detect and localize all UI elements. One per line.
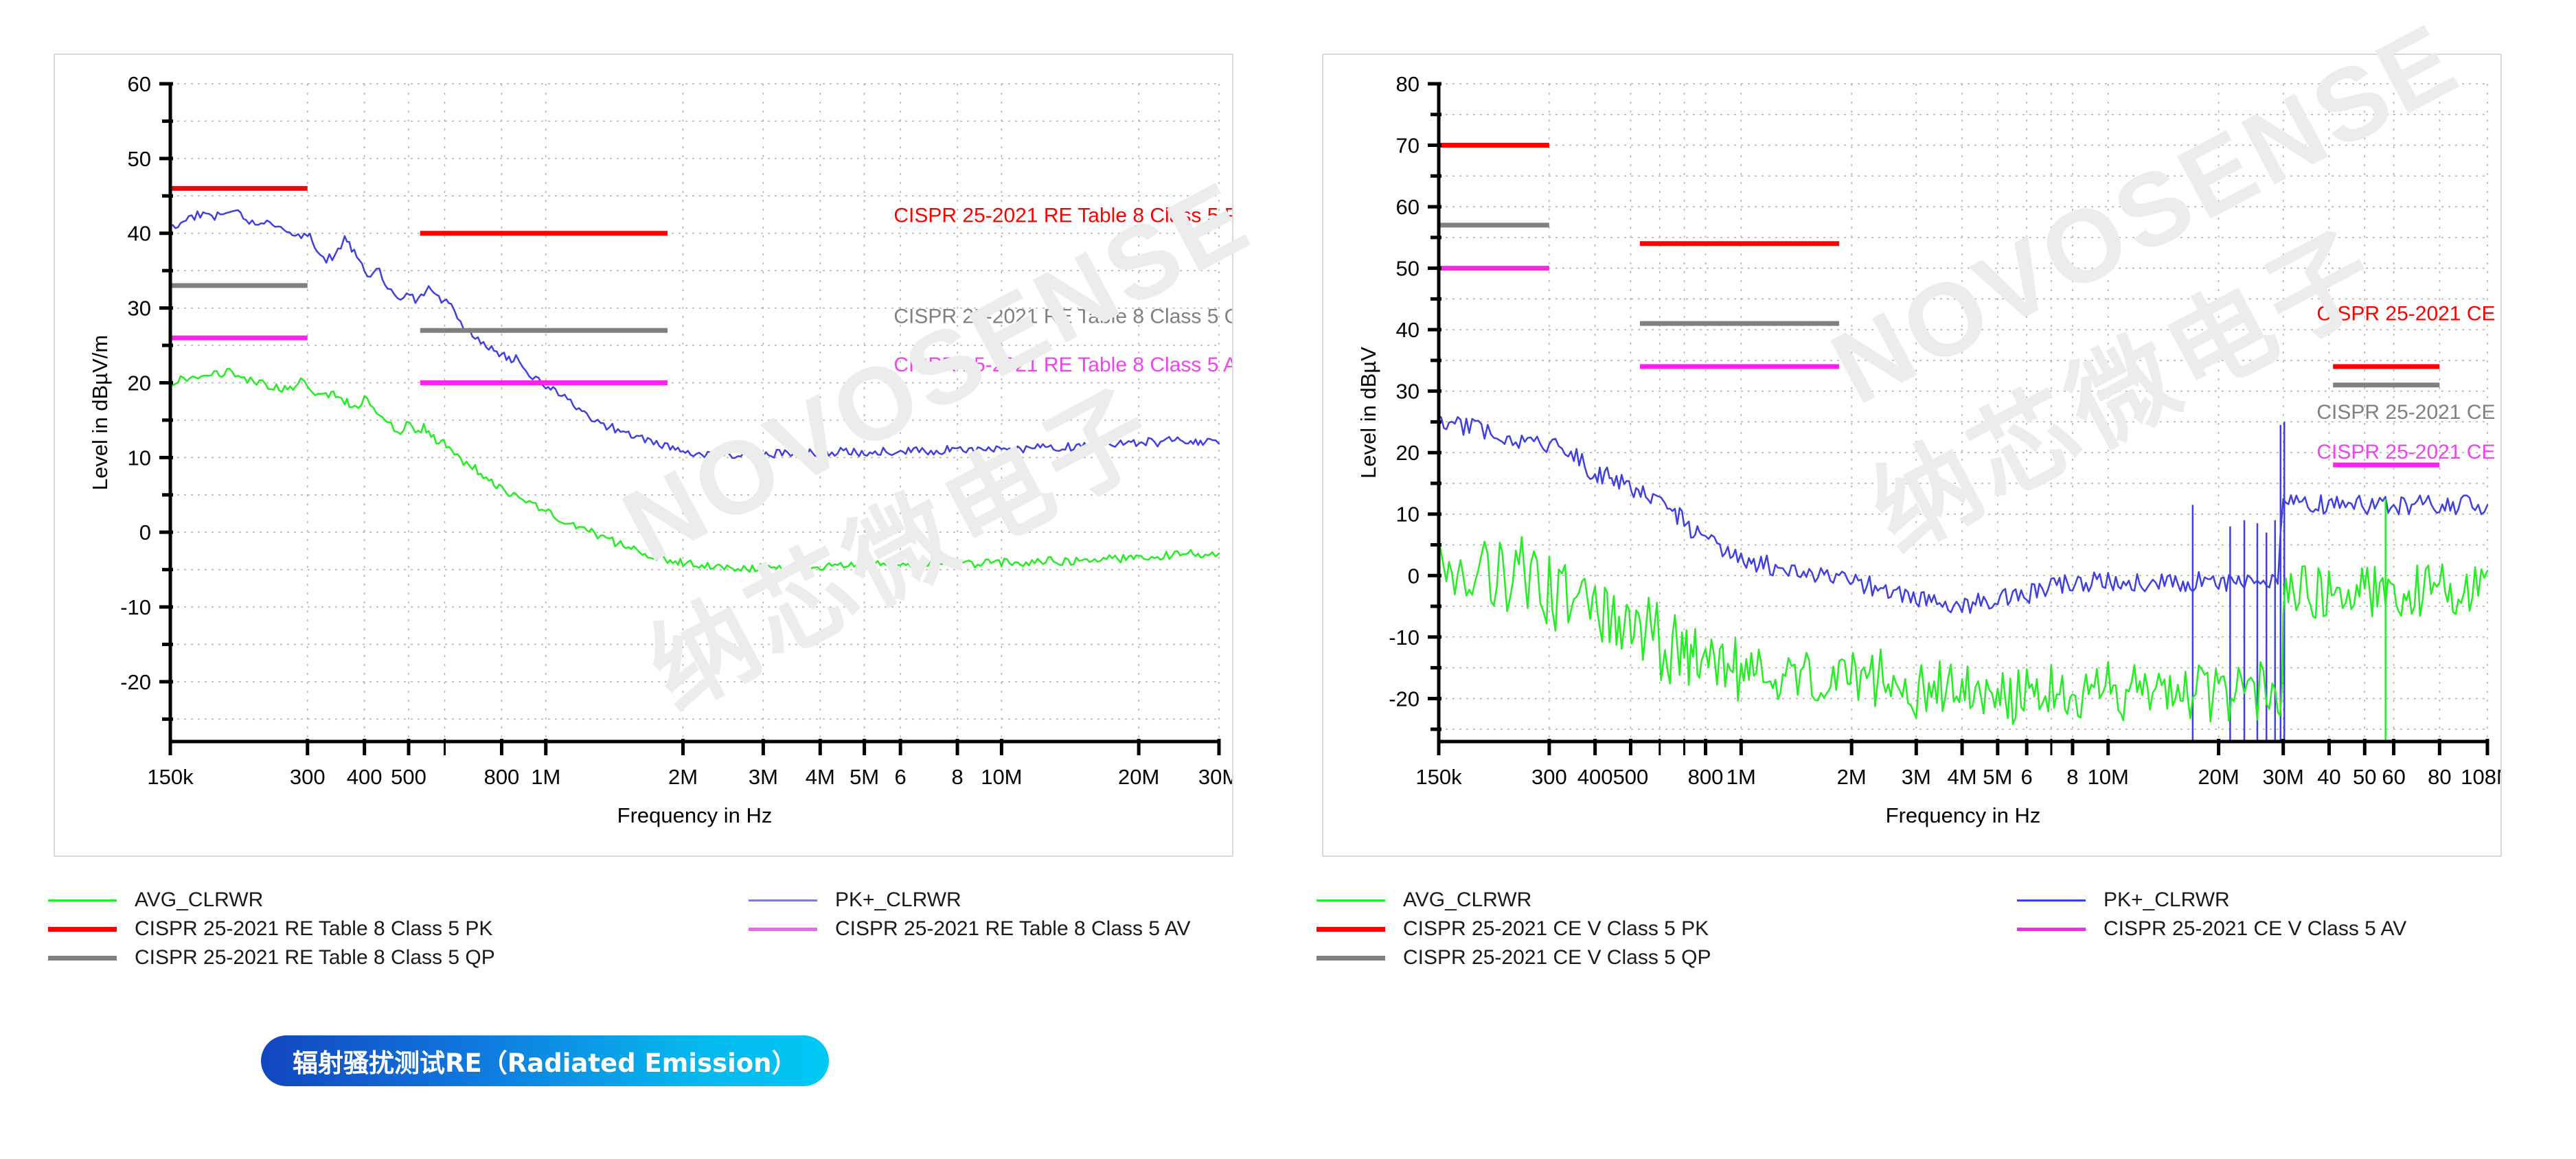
- svg-text:20: 20: [1396, 441, 1420, 465]
- svg-text:50: 50: [1396, 257, 1420, 281]
- svg-text:-20: -20: [1389, 687, 1420, 711]
- svg-text:CISPR 25-2021 RE Table 8 Class: CISPR 25-2021 RE Table 8 Class 5 PK: [893, 204, 1233, 227]
- legend-item: PK+_CLRWR: [749, 886, 1229, 915]
- legend-item-label: CISPR 25-2021 RE Table 8 Class 5 AV: [835, 917, 1191, 941]
- svg-text:60: 60: [1396, 195, 1420, 219]
- legend-item: CISPR 25-2021 RE Table 8 Class 5 QP: [48, 943, 749, 972]
- svg-text:Frequency in Hz: Frequency in Hz: [1886, 803, 2041, 827]
- banner-radiated-emission[interactable]: 辐射骚扰测试RE（Radiated Emission）: [261, 1035, 829, 1086]
- svg-text:2M: 2M: [668, 765, 698, 789]
- legend-swatch-line: [48, 927, 117, 932]
- svg-text:3M: 3M: [749, 765, 778, 789]
- svg-text:800: 800: [484, 765, 520, 789]
- svg-text:500: 500: [391, 765, 426, 789]
- svg-text:60: 60: [2382, 765, 2405, 789]
- svg-text:6: 6: [895, 765, 907, 789]
- legend-swatch-line: [1317, 927, 1385, 932]
- svg-text:8: 8: [2066, 765, 2078, 789]
- legend-item-label: CISPR 25-2021 CE V Class 5 PK: [1403, 917, 1709, 941]
- svg-text:CISPR 25-2021 CE V Class 5 PK: CISPR 25-2021 CE V Class 5 PK: [2316, 303, 2502, 325]
- legend-item: PK+_CLRWR: [2017, 886, 2498, 915]
- svg-text:0: 0: [1408, 564, 1420, 588]
- legend-swatch-line: [48, 899, 117, 902]
- svg-text:3M: 3M: [1902, 765, 1931, 789]
- page-root: CISPR 25-2021 RE Table 8 Class 5 PKCISPR…: [0, 0, 2576, 1159]
- legend-column-primary: AVG_CLRWRCISPR 25-2021 RE Table 8 Class …: [48, 886, 749, 972]
- chart-radiated-emission[interactable]: CISPR 25-2021 RE Table 8 Class 5 PKCISPR…: [55, 55, 1233, 857]
- svg-text:150k: 150k: [1415, 765, 1462, 789]
- svg-text:300: 300: [1531, 765, 1567, 789]
- legend-swatch-line: [749, 928, 817, 931]
- svg-text:500: 500: [1613, 765, 1649, 789]
- chart-card-right: CISPR 25-2021 CE V Class 5 PKCISPR 25-20…: [1322, 54, 2502, 857]
- legend-item-label: CISPR 25-2021 RE Table 8 Class 5 PK: [135, 917, 492, 941]
- panel-radiated-emission: CISPR 25-2021 RE Table 8 Class 5 PKCISPR…: [0, 0, 1288, 1159]
- svg-text:-20: -20: [120, 670, 151, 694]
- legend-swatch-line: [48, 956, 117, 961]
- svg-text:30: 30: [128, 297, 151, 321]
- chart-card-left: CISPR 25-2021 RE Table 8 Class 5 PKCISPR…: [54, 54, 1233, 857]
- svg-text:30M: 30M: [1198, 765, 1233, 789]
- svg-text:108M: 108M: [2461, 765, 2502, 789]
- svg-text:4M: 4M: [806, 765, 835, 789]
- svg-text:5M: 5M: [850, 765, 879, 789]
- legend-item-label: CISPR 25-2021 CE V Class 5 QP: [1403, 946, 1711, 969]
- legend-swatch-line: [749, 899, 817, 902]
- legend-item: CISPR 25-2021 RE Table 8 Class 5 PK: [48, 915, 749, 943]
- svg-text:30M: 30M: [2263, 765, 2304, 789]
- legend-swatch-line: [1317, 956, 1385, 961]
- chart-conducted-emission[interactable]: CISPR 25-2021 CE V Class 5 PKCISPR 25-20…: [1323, 55, 2502, 857]
- svg-text:300: 300: [290, 765, 326, 789]
- legend-swatch-line: [2017, 899, 2086, 902]
- svg-text:1M: 1M: [1726, 765, 1756, 789]
- legend-item: AVG_CLRWR: [1317, 886, 2017, 915]
- svg-text:Level in dBµV: Level in dBµV: [1356, 347, 1380, 479]
- legend-swatch-line: [1317, 899, 1385, 902]
- svg-text:10: 10: [1396, 503, 1420, 527]
- svg-text:400: 400: [347, 765, 383, 789]
- svg-text:8: 8: [951, 765, 963, 789]
- legend-column-secondary: PK+_CLRWRCISPR 25-2021 CE V Class 5 AV: [2017, 886, 2498, 943]
- svg-text:40: 40: [128, 222, 151, 246]
- svg-text:CISPR 25-2021 CE V Class 5 QP: CISPR 25-2021 CE V Class 5 QP: [2316, 401, 2502, 424]
- svg-text:50: 50: [128, 147, 151, 171]
- panel-conducted-emission: CISPR 25-2021 CE V Class 5 PKCISPR 25-20…: [1288, 0, 2576, 1159]
- svg-text:10: 10: [128, 446, 151, 470]
- svg-text:60: 60: [128, 72, 151, 96]
- svg-text:20M: 20M: [2198, 765, 2239, 789]
- legend-item-label: PK+_CLRWR: [835, 888, 961, 912]
- svg-text:-10: -10: [1389, 626, 1420, 650]
- legend-item-label: CISPR 25-2021 RE Table 8 Class 5 QP: [135, 946, 495, 969]
- legend-item: CISPR 25-2021 CE V Class 5 QP: [1317, 943, 2017, 972]
- legend-column-primary: AVG_CLRWRCISPR 25-2021 CE V Class 5 PKCI…: [1317, 886, 2017, 972]
- svg-text:Level in dBµV/m: Level in dBµV/m: [88, 335, 112, 490]
- svg-text:-10: -10: [120, 595, 151, 619]
- legend-item: CISPR 25-2021 CE V Class 5 AV: [2017, 915, 2498, 943]
- svg-text:6: 6: [2021, 765, 2033, 789]
- svg-text:CISPR 25-2021 RE Table 8 Class: CISPR 25-2021 RE Table 8 Class 5 AV: [893, 354, 1233, 376]
- legend-item: AVG_CLRWR: [48, 886, 749, 915]
- legend-item: CISPR 25-2021 RE Table 8 Class 5 AV: [749, 915, 1229, 943]
- svg-text:800: 800: [1688, 765, 1724, 789]
- svg-text:CISPR 25-2021 RE Table 8 Class: CISPR 25-2021 RE Table 8 Class 5 QP: [893, 305, 1233, 328]
- svg-text:CISPR 25-2021 CE V Class 5 AV: CISPR 25-2021 CE V Class 5 AV: [2316, 441, 2502, 463]
- svg-text:20M: 20M: [1118, 765, 1159, 789]
- svg-text:400: 400: [1577, 765, 1613, 789]
- svg-text:10M: 10M: [2088, 765, 2129, 789]
- svg-text:10M: 10M: [981, 765, 1022, 789]
- legend-item-label: AVG_CLRWR: [135, 888, 263, 912]
- svg-text:40: 40: [2317, 765, 2340, 789]
- svg-text:80: 80: [1396, 72, 1420, 96]
- legend-item: CISPR 25-2021 CE V Class 5 PK: [1317, 915, 2017, 943]
- legend-item-label: CISPR 25-2021 CE V Class 5 AV: [2104, 917, 2406, 941]
- svg-text:40: 40: [1396, 318, 1420, 342]
- legend-column-secondary: PK+_CLRWRCISPR 25-2021 RE Table 8 Class …: [749, 886, 1229, 943]
- svg-text:0: 0: [139, 520, 151, 544]
- legend-swatch-line: [2017, 928, 2086, 931]
- svg-text:Frequency in Hz: Frequency in Hz: [617, 803, 773, 827]
- legend-item-label: PK+_CLRWR: [2104, 888, 2230, 912]
- svg-text:150k: 150k: [147, 765, 194, 789]
- svg-text:4M: 4M: [1948, 765, 1977, 789]
- svg-text:30: 30: [1396, 380, 1420, 404]
- svg-text:70: 70: [1396, 134, 1420, 158]
- svg-text:5M: 5M: [1983, 765, 2012, 789]
- svg-text:20: 20: [128, 371, 151, 395]
- svg-text:80: 80: [2428, 765, 2451, 789]
- svg-text:2M: 2M: [1837, 765, 1867, 789]
- svg-text:1M: 1M: [531, 765, 560, 789]
- legend-item-label: AVG_CLRWR: [1403, 888, 1531, 912]
- svg-text:50: 50: [2353, 765, 2376, 789]
